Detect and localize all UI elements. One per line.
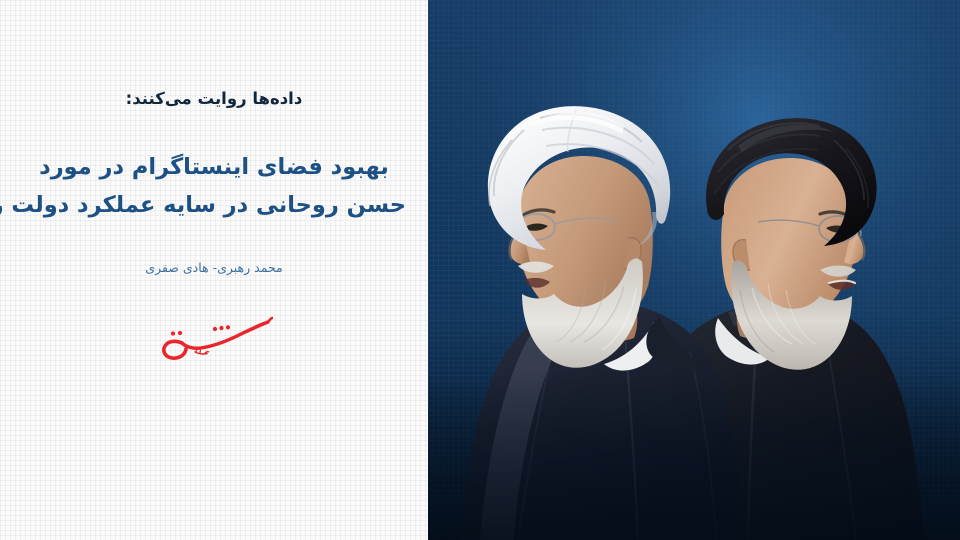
headline-line-1: بهبود فضای اینستاگرام در مورد [22, 149, 406, 187]
logo-container[interactable] [18, 311, 410, 367]
left-panel-content: داده‌ها روایت می‌کنند: بهبود فضای اینستا… [0, 0, 428, 367]
right-photo-panel [428, 0, 960, 540]
left-text-panel: داده‌ها روایت می‌کنند: بهبود فضای اینستا… [0, 0, 428, 540]
kicker-label: داده‌ها روایت می‌کنند: [18, 88, 410, 109]
bottom-vignette [428, 370, 960, 540]
byline-authors: محمد رهبری- هادی صفری [18, 259, 410, 277]
cover-graphic: داده‌ها روایت می‌کنند: بهبود فضای اینستا… [0, 0, 960, 540]
page-title: بهبود فضای اینستاگرام در مورد حسن روحانی… [18, 149, 410, 225]
sharq-logo-icon [155, 313, 273, 365]
headline-line-2: حسن روحانی در سایه عملکرد دولت رئیسی [22, 187, 406, 225]
